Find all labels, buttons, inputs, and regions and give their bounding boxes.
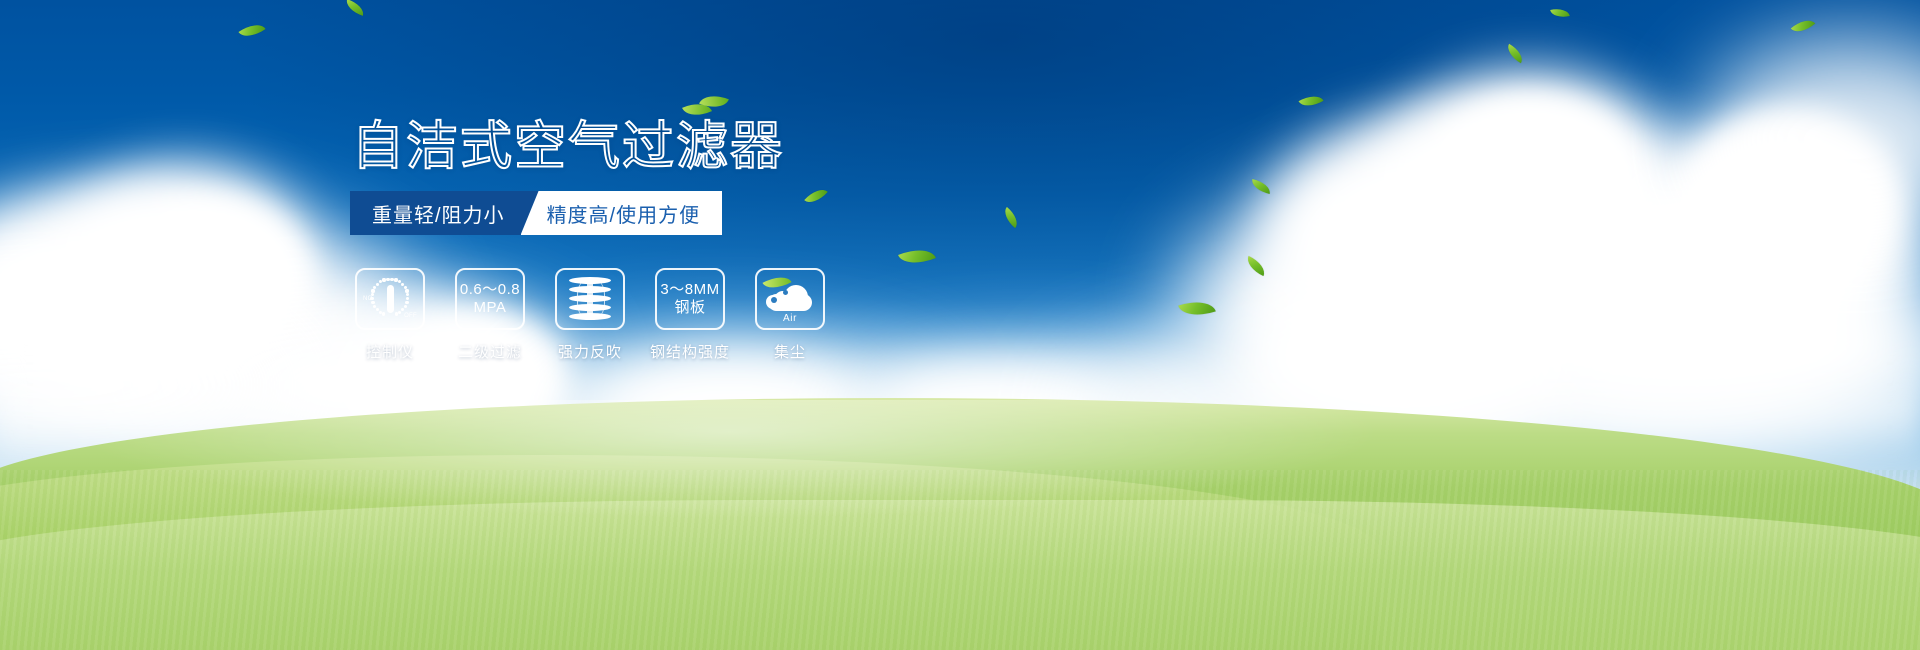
hero-banner: 自洁式空气过滤器 重量轻/阻力小 精度高/使用方便 NO OFF 控制仪 [0, 0, 1920, 650]
tagline-left: 重量轻/阻力小 [350, 191, 539, 235]
feature-box: 0.6～0.8 MPA [455, 268, 525, 330]
feature-item-steel-strength[interactable]: 3～8MM 钢板 钢结构强度 [652, 268, 728, 362]
air-label: Air [762, 313, 818, 324]
feature-list: NO OFF 控制仪 0.6～0.8 MPA 二级过滤 [352, 268, 828, 362]
feature-item-dust-collection[interactable]: Air 集尘 [752, 268, 828, 362]
tagline-pill: 重量轻/阻力小 精度高/使用方便 [350, 191, 722, 235]
feature-box: NO OFF [355, 268, 425, 330]
tagline-right: 精度高/使用方便 [521, 191, 723, 235]
feature-label: 集尘 [774, 341, 806, 362]
feature-label: 二级过滤 [458, 341, 522, 362]
feature-box-text: 3～8MM 钢板 [660, 281, 719, 317]
feature-box [555, 268, 625, 330]
feature-item-control-instrument[interactable]: NO OFF 控制仪 [352, 268, 428, 362]
dial-label-off: OFF [404, 313, 417, 319]
feature-item-strong-backblow[interactable]: 强力反吹 [552, 268, 628, 362]
pleated-filter-icon [569, 276, 611, 322]
feature-box: Air [755, 268, 825, 330]
feature-box: 3～8MM 钢板 [655, 268, 725, 330]
feature-label: 钢结构强度 [650, 341, 730, 362]
feature-label: 强力反吹 [558, 341, 622, 362]
cloud-air-icon: Air [762, 276, 818, 322]
feature-box-text: 0.6～0.8 MPA [460, 281, 520, 317]
dial-label-no: NO [363, 296, 373, 302]
page-title: 自洁式空气过滤器 [352, 117, 784, 177]
dial-gauge-icon: NO OFF [364, 276, 416, 322]
feature-label: 控制仪 [366, 341, 414, 362]
feature-item-two-stage-filtration[interactable]: 0.6～0.8 MPA 二级过滤 [452, 268, 528, 362]
dial-needle [387, 285, 394, 313]
